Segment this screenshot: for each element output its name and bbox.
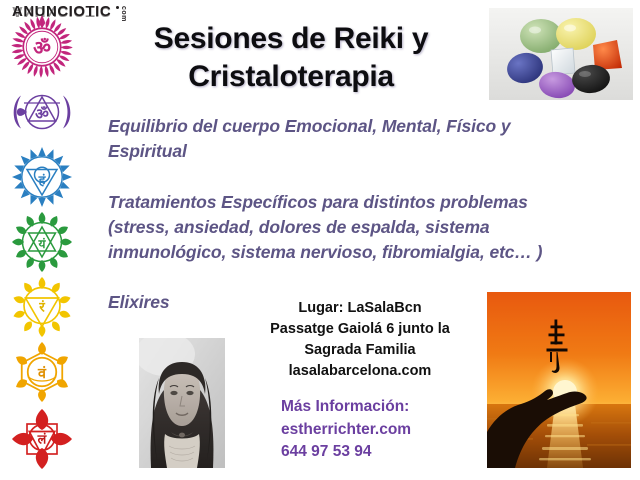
throat-chakra-vishuddha-icon: हं [4, 144, 80, 210]
venue-name-line: Lugar: LaSalaBcn [250, 298, 470, 319]
poster-title: Sesiones de Reiki y Cristaloterapia [96, 20, 486, 96]
more-information-label: Más Información: [281, 396, 491, 419]
svg-text:ॐ: ॐ [35, 105, 49, 123]
paragraph-equilibrio: Equilibrio del cuerpo Emocional, Mental,… [108, 114, 578, 164]
svg-text:वं: वं [37, 365, 47, 382]
venue-district-line: Sagrada Familia [250, 340, 470, 361]
svg-text:हं: हं [38, 174, 47, 189]
crown-chakra-sahasrara-icon: ॐ [4, 14, 80, 80]
third-eye-chakra-ajna-icon: ॐ [4, 79, 80, 145]
label-elixires: Elixires [108, 290, 258, 315]
svg-text:यं: यं [38, 237, 47, 251]
svg-text:रं: रं [38, 300, 45, 316]
more-information-website-link[interactable]: estherrichter.com [281, 419, 491, 442]
sunset-hand-photo [487, 292, 631, 468]
venue-street-line: Passatge Gaiolá 6 junto la [250, 319, 470, 340]
sacral-chakra-svadhisthana-icon: वं [4, 339, 80, 405]
more-information-phone[interactable]: 644 97 53 94 [281, 441, 491, 464]
solar-plexus-chakra-manipura-icon: रं [4, 274, 80, 340]
root-chakra-muladhara-icon: लं [4, 406, 80, 472]
more-information-block: Más Información: estherrichter.com 644 9… [281, 396, 491, 464]
watermark-dot-icon [116, 6, 119, 9]
svg-text:लं: लं [37, 433, 48, 448]
title-line-2: Cristaloterapia [96, 58, 486, 96]
heart-chakra-anahata-icon: यं [4, 209, 80, 275]
venue-address-block: Lugar: LaSalaBcn Passatge Gaiolá 6 junto… [250, 298, 470, 382]
venue-website-link[interactable]: lasalabarcelona.com [250, 361, 470, 382]
poster-canvas: ANUNCIOTIC ANUNCIOTIC com [0, 0, 640, 480]
svg-text:ॐ: ॐ [33, 37, 51, 60]
crystals-photo [489, 8, 633, 100]
chakra-symbol-column: ॐ ॐ [4, 14, 82, 476]
practitioner-portrait-photo [139, 338, 225, 468]
title-line-1: Sesiones de Reiki y [96, 20, 486, 58]
paragraph-tratamientos: Tratamientos Específicos para distintos … [108, 190, 578, 265]
